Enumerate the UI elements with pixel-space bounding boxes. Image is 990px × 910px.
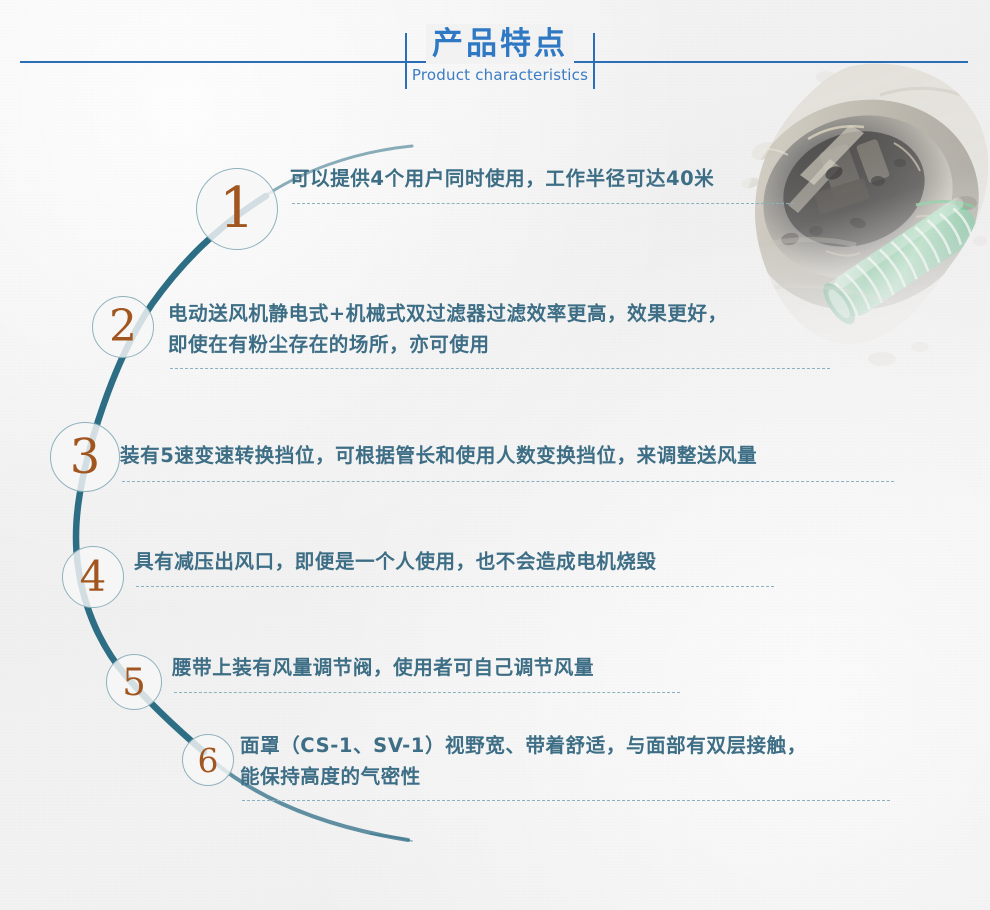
feature-item-4: 具有减压出风口，即便是一个人使用，也不会造成电机烧毁 xyxy=(134,546,657,577)
feature-item-1: 可以提供4个用户同时使用，工作半径可达40米 xyxy=(290,163,714,194)
feature-number-1: 1 xyxy=(219,181,255,237)
feature-underline-1 xyxy=(292,203,794,204)
feature-number-6: 6 xyxy=(198,744,219,777)
page-subtitle: Product characteristics xyxy=(405,65,595,85)
feature-number-badge-4: 4 xyxy=(62,546,124,608)
feature-number-badge-1: 1 xyxy=(196,168,278,250)
feature-item-6: 面罩（CS-1、SV-1）视野宽、带着舒适，与面部有双层接触， 能保持高度的气密… xyxy=(240,730,807,792)
feature-line: 能保持高度的气密性 xyxy=(240,761,807,792)
feature-underline-3 xyxy=(122,481,894,482)
feature-number-4: 4 xyxy=(80,556,107,598)
feature-line: 装有5速变速转换挡位，可根据管长和使用人数变换挡位，来调整送风量 xyxy=(120,440,757,471)
feature-line: 可以提供4个用户同时使用，工作半径可达40米 xyxy=(290,163,714,194)
feature-number-badge-6: 6 xyxy=(182,734,234,786)
feature-item-3: 装有5速变速转换挡位，可根据管长和使用人数变换挡位，来调整送风量 xyxy=(120,440,757,471)
feature-item-5: 腰带上装有风量调节阀，使用者可自己调节风量 xyxy=(172,652,594,683)
feature-number-2: 2 xyxy=(109,305,137,349)
feature-item-2: 电动送风机静电式+机械式双过滤器过滤效率更高，效果更好， 即使在有粉尘存在的场所… xyxy=(168,298,728,360)
feature-underline-4 xyxy=(136,586,774,587)
feature-line: 面罩（CS-1、SV-1）视野宽、带着舒适，与面部有双层接触， xyxy=(240,730,807,761)
feature-line: 具有减压出风口，即便是一个人使用，也不会造成电机烧毁 xyxy=(134,546,657,577)
feature-line: 电动送风机静电式+机械式双过滤器过滤效率更高，效果更好， xyxy=(168,298,728,329)
feature-number-3: 3 xyxy=(70,433,101,481)
feature-line: 即使在有粉尘存在的场所，亦可使用 xyxy=(168,329,728,360)
feature-number-badge-5: 5 xyxy=(106,654,162,710)
feature-underline-5 xyxy=(174,692,680,693)
feature-number-badge-2: 2 xyxy=(92,296,154,358)
feature-underline-6 xyxy=(242,800,890,801)
feature-number-5: 5 xyxy=(122,664,146,701)
product-photo xyxy=(730,55,990,395)
page-title-block: 产品特点 Product characteristics xyxy=(405,24,595,85)
feature-line: 腰带上装有风量调节阀，使用者可自己调节风量 xyxy=(172,652,594,683)
feature-underline-2 xyxy=(170,368,830,369)
feature-number-badge-3: 3 xyxy=(50,422,120,492)
product-characteristics-page: 产品特点 Product characteristics 1 2 3 4 5 6 xyxy=(0,0,990,910)
page-title: 产品特点 xyxy=(426,24,574,64)
